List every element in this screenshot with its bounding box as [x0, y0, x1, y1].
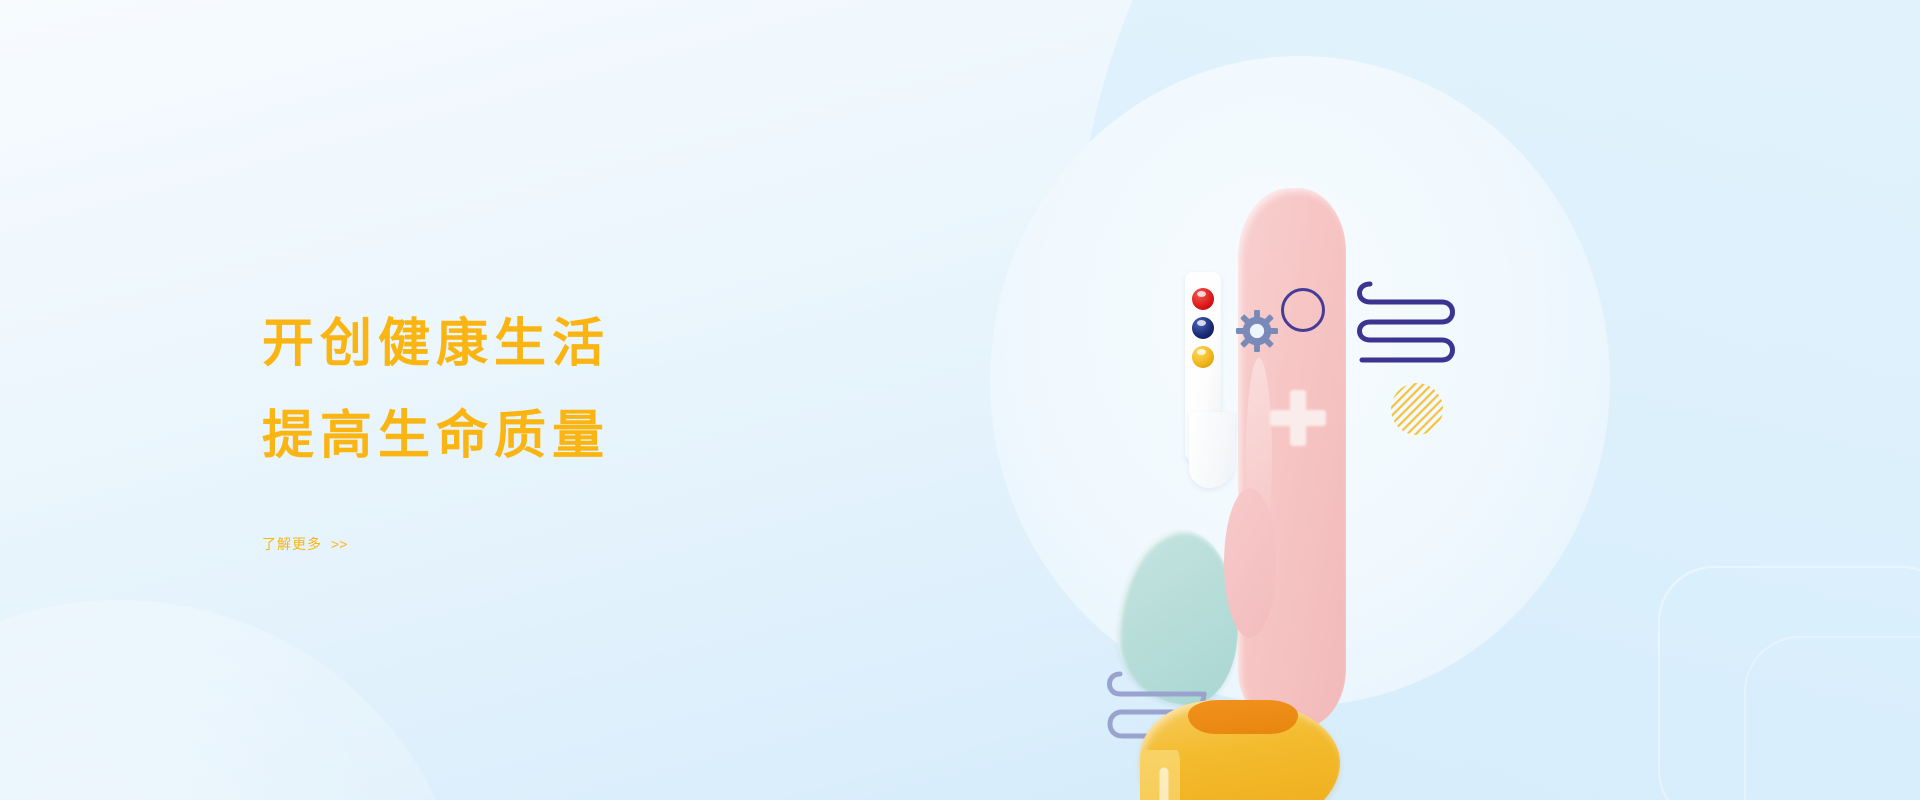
hero-copy: 开创健康生活 提高生命质量 了解更多 >>: [262, 318, 882, 554]
hero-banner: 开创健康生活 提高生命质量 了解更多 >>: [0, 0, 1920, 800]
bead-yellow-icon: [1192, 346, 1214, 368]
navy-serpentine-icon: [1354, 276, 1458, 368]
gear-small-icon: [1236, 310, 1278, 352]
headline-line-1: 开创健康生活: [262, 318, 882, 370]
pink-organ-shape: [1238, 188, 1346, 728]
learn-more-label: 了解更多: [262, 536, 322, 552]
chevron-right-icon: >>: [331, 536, 347, 552]
test-tube-neck: [1189, 412, 1235, 488]
striped-circle-icon: [1390, 382, 1444, 436]
digestive-system-illustration: [940, 60, 1640, 700]
bead-red-icon: [1192, 288, 1214, 310]
intestine-shape: [1120, 750, 1420, 800]
bead-navy-icon: [1192, 317, 1214, 339]
white-cross-soft-icon: [1270, 390, 1326, 446]
background-rounded-outline-two: [1744, 636, 1920, 800]
learn-more-link[interactable]: 了解更多 >>: [262, 534, 347, 554]
purple-circle-icon: [1281, 288, 1325, 332]
stomach-fundus-shape: [1188, 700, 1298, 734]
headline-line-2: 提高生命质量: [262, 410, 882, 462]
background-corner-circle: [0, 600, 470, 800]
